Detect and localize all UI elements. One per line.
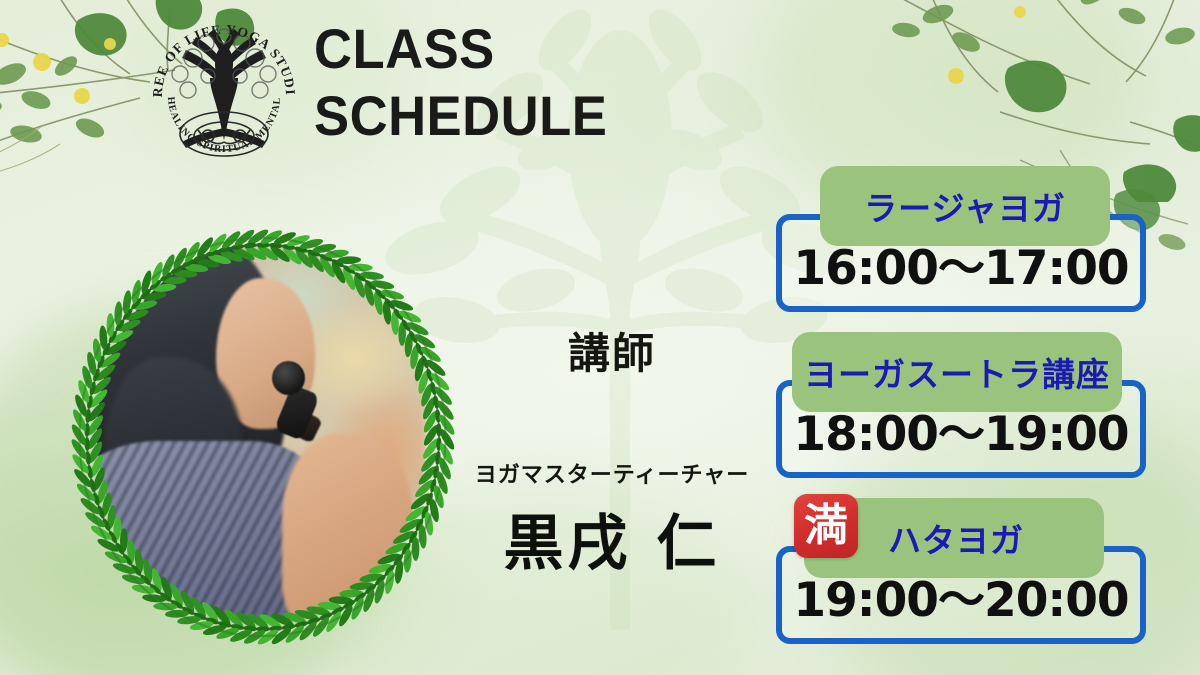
schedule-item[interactable]: 19:00〜20:00 ハタヨガ 満: [770, 498, 1170, 646]
title-line-class: CLASS: [314, 20, 607, 77]
class-schedule-poster: TREE OF LIFE YOGA STUDIO HEALING SPIRITU…: [0, 0, 1200, 675]
status-badge-full: 満: [794, 494, 858, 558]
instructor-portrait: [64, 222, 462, 652]
class-name-pill: ラージャヨガ: [820, 166, 1110, 246]
class-name: ハタヨガ: [888, 514, 1024, 562]
instructor-info: 講師 ヨガマスターティーチャー 黒戌 仁: [452, 320, 772, 582]
instructor-heading: 講師: [452, 320, 772, 381]
schedule-list: 16:00〜17:00 ラージャヨガ 18:00〜19:00 ヨーガスートラ講座…: [770, 166, 1170, 646]
title-line-schedule: SCHEDULE: [314, 87, 607, 144]
full-badge-label: 満: [804, 504, 848, 548]
schedule-item[interactable]: 18:00〜19:00 ヨーガスートラ講座: [770, 332, 1170, 480]
instructor-name: 黒戌 仁: [452, 495, 772, 582]
page-title: CLASS SCHEDULE: [314, 20, 626, 144]
leaf-wreath-icon: [64, 222, 462, 652]
class-name: ヨーガスートラ講座: [804, 348, 1110, 396]
studio-logo: TREE OF LIFE YOGA STUDIO HEALING SPIRITU…: [148, 16, 300, 168]
class-name: ラージャヨガ: [864, 182, 1066, 230]
class-name-pill: ヨーガスートラ講座: [792, 332, 1122, 412]
schedule-item[interactable]: 16:00〜17:00 ラージャヨガ: [770, 166, 1170, 314]
instructor-role: ヨガマスターティーチャー: [452, 457, 772, 489]
tree-of-life-logo-icon: TREE OF LIFE YOGA STUDIO HEALING SPIRITU…: [148, 16, 300, 168]
